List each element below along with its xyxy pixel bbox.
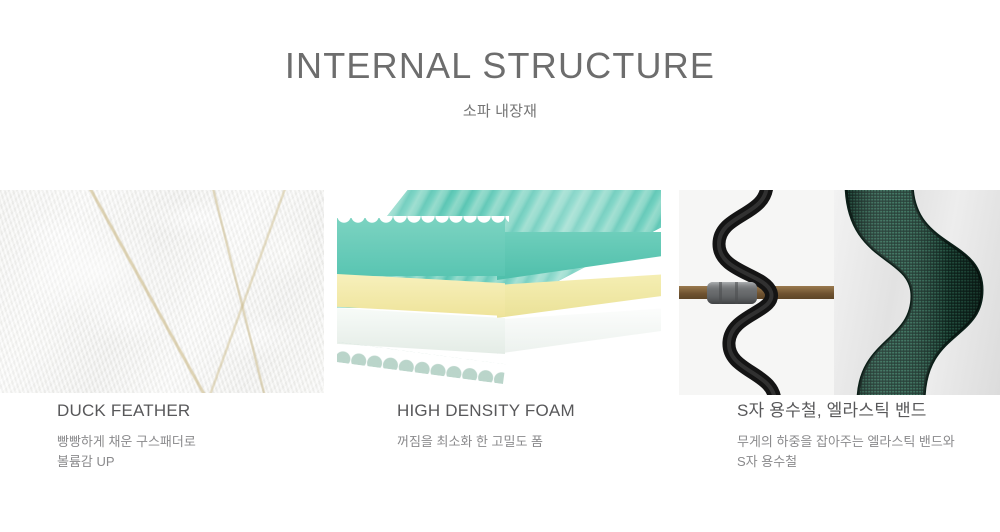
internal-structure-page: INTERNAL STRUCTURE 소파 내장재 — [0, 0, 1000, 532]
panel-duck-feather — [0, 190, 324, 395]
foam-teal-side-right — [497, 232, 661, 280]
caption-desc-spring-elastic-band-line2: S자 용수철 — [737, 452, 955, 472]
foam-block — [337, 190, 661, 395]
elastic-band-shape — [834, 190, 1000, 395]
caption-desc-duck-feather-line1: 빵빵하게 채운 구스패더로 — [57, 432, 196, 452]
feather-texture — [0, 190, 324, 393]
page-header: INTERNAL STRUCTURE 소파 내장재 — [0, 0, 1000, 122]
caption-desc-spring-elastic-band-line1: 무게의 하중을 잡아주는 엘라스틱 밴드와 — [737, 432, 955, 452]
elastic-band-photo — [834, 190, 1000, 395]
page-title: INTERNAL STRUCTURE — [0, 46, 1000, 86]
foam-wavy-edge — [337, 216, 509, 232]
caption-title-duck-feather: DUCK FEATHER — [57, 400, 196, 422]
caption-duck-feather: DUCK FEATHER 빵빵하게 채운 구스패더로 볼륨감 UP — [57, 400, 196, 472]
spring-and-elastic-band-photo — [679, 190, 1000, 395]
caption-high-density-foam: HIGH DENSITY FOAM 꺼짐을 최소화 한 고밀도 폼 — [397, 400, 575, 452]
spring-metal-clip — [707, 282, 757, 304]
caption-desc-duck-feather-line2: 볼륨감 UP — [57, 452, 196, 472]
s-spring-shape — [679, 190, 834, 395]
caption-title-high-density-foam: HIGH DENSITY FOAM — [397, 400, 575, 422]
high-density-foam-photo — [337, 190, 661, 395]
caption-spring-elastic-band: S자 용수철, 엘라스틱 밴드 무게의 하중을 잡아주는 엘라스틱 밴드와 S자… — [737, 400, 955, 472]
duck-feather-photo — [0, 190, 324, 395]
caption-title-spring-elastic-band: S자 용수철, 엘라스틱 밴드 — [737, 400, 955, 422]
caption-row: DUCK FEATHER 빵빵하게 채운 구스패더로 볼륨감 UP HIGH D… — [0, 400, 1000, 520]
page-subtitle: 소파 내장재 — [0, 102, 1000, 122]
panel-high-density-foam — [337, 190, 661, 395]
material-image-row — [0, 190, 1000, 400]
s-spring-photo — [679, 190, 834, 395]
panel-spring-elastic-band — [679, 190, 1000, 395]
caption-desc-high-density-foam-line1: 꺼짐을 최소화 한 고밀도 폼 — [397, 432, 575, 452]
foam-white-layer-right — [497, 308, 661, 360]
